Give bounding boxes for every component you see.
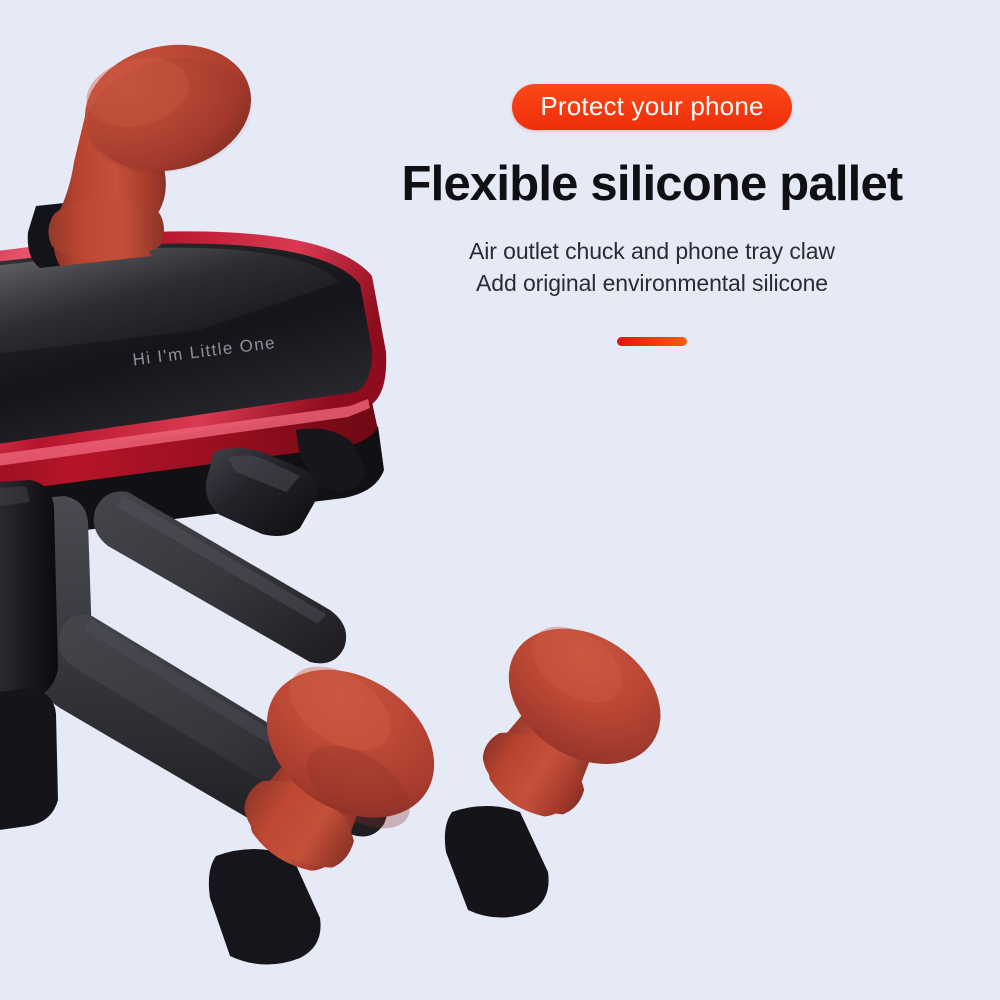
divider-container [396,333,908,343]
subtitle-line-1: Air outlet chuck and phone tray claw [396,236,908,268]
tray-engraving: Hi I'm Little One [131,333,276,369]
holder-hub [206,429,366,537]
marketing-slide: Hi I'm Little One [0,0,1000,1000]
page-title: Flexible silicone pallet [396,159,908,210]
svg-text:Hi I'm Little One: Hi I'm Little One [131,333,276,369]
subtitle-line-2: Add original environmental silicone [396,268,908,300]
lower-right-silicone-pad [445,601,687,918]
upper-left-silicone-pad [28,29,264,268]
status-badge: Protect your phone [512,84,791,130]
subtitle: Air outlet chuck and phone tray claw Add… [396,236,908,299]
lower-middle-silicone-pad [202,639,462,964]
copy-block: Protect your phone Flexible silicone pal… [396,84,908,343]
holder-arms [0,480,387,840]
phone-tray: Hi I'm Little One [0,231,386,548]
accent-divider [617,337,687,346]
